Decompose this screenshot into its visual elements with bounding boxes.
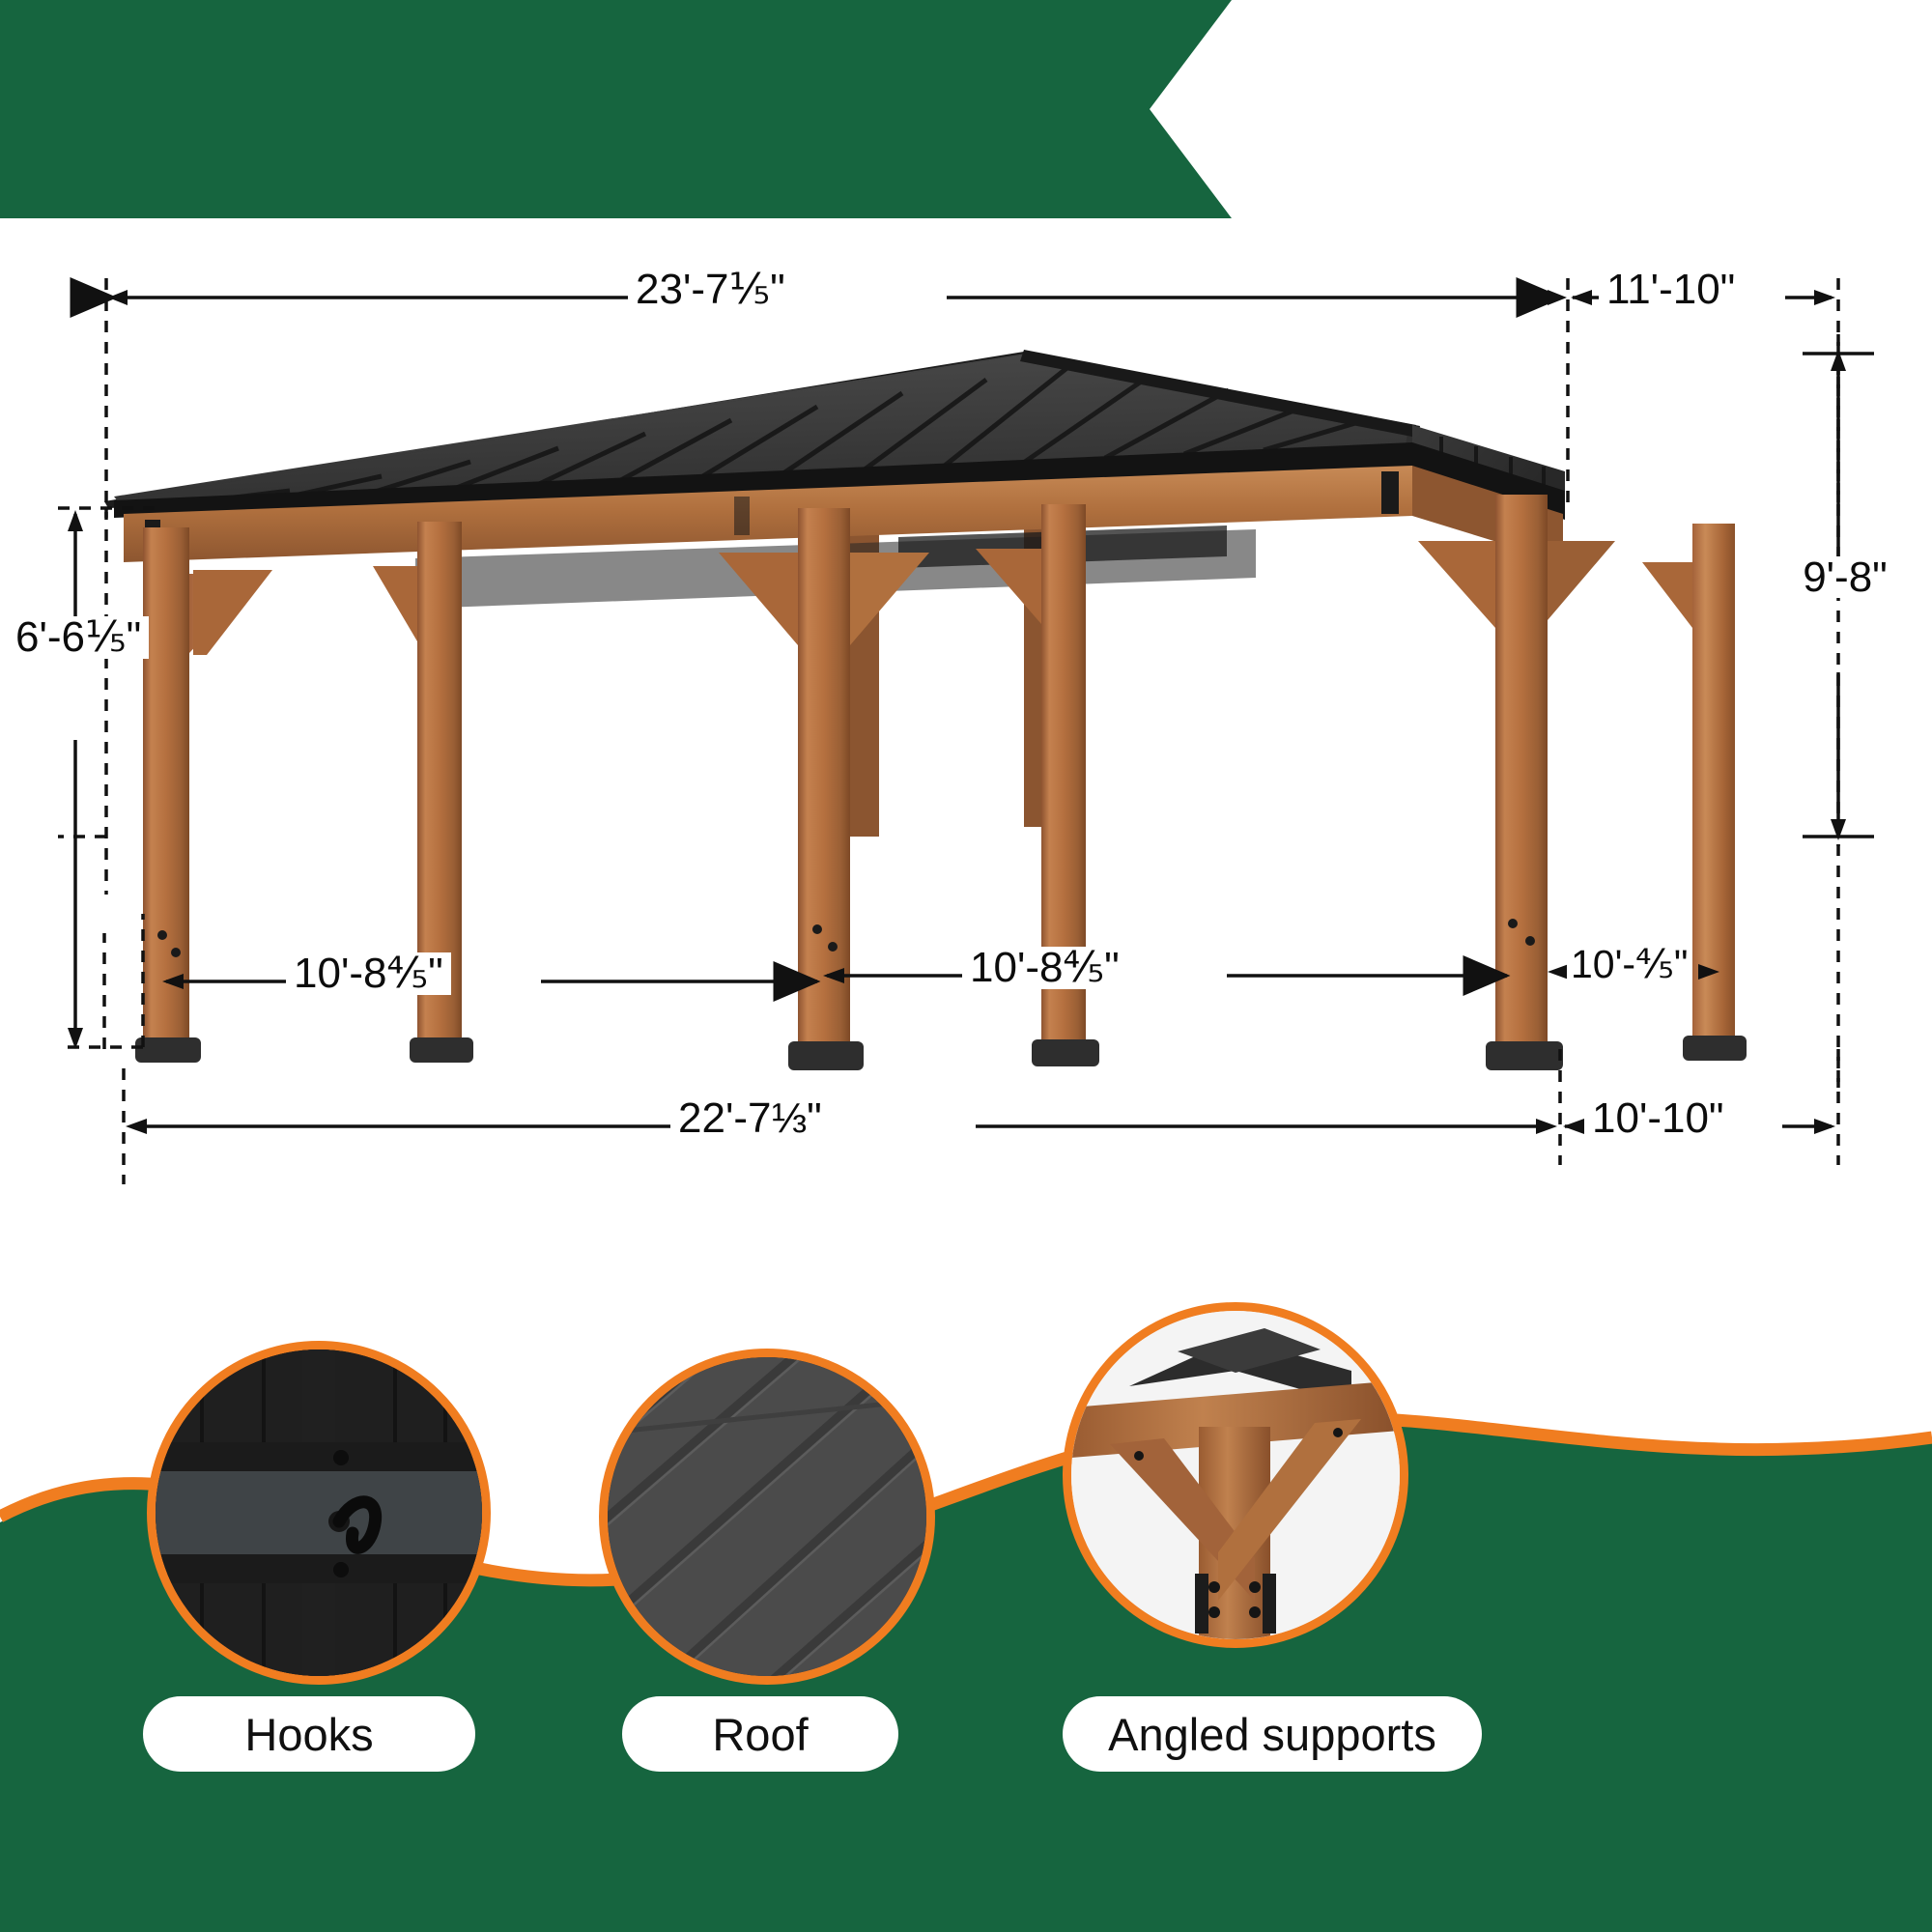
infographic-canvas: Product Dimensions [0, 0, 1932, 1932]
feature-label-hooks: Hooks [143, 1696, 475, 1772]
feature-label-hooks-text: Hooks [244, 1708, 373, 1761]
dimension-label-base-width-bottom: 22'-7⅓" [670, 1097, 830, 1140]
dimension-label-bay-span-2: 10'-8⅘" [962, 947, 1127, 989]
dimension-label-base-depth-bottom: 10'-10" [1584, 1097, 1732, 1140]
angled-support-icon [1071, 1311, 1400, 1639]
hook-detail-icon [156, 1350, 482, 1676]
feature-callouts-section: Hooks [0, 1281, 1932, 1932]
dimension-label-post-height-left: 6'-6⅕" [8, 616, 149, 659]
feature-label-angled-supports: Angled supports [1063, 1696, 1482, 1772]
dimension-label-roof-width-top: 23'-7⅕" [628, 269, 793, 311]
feature-image-hooks [147, 1341, 491, 1685]
feature-image-angled-supports [1063, 1302, 1408, 1648]
dimension-label-bay-span-1: 10'-8⅘" [286, 952, 451, 995]
dimension-diagram: 23'-7⅕" 11'-10" 6'-6⅕" 9'-8" 10'-8⅘" 10'… [0, 218, 1932, 1281]
dimension-label-roof-depth-top: 11'-10" [1599, 269, 1743, 311]
feature-label-angled-supports-text: Angled supports [1108, 1708, 1436, 1761]
dimension-label-bay-span-3: 10'-⅘" [1567, 945, 1691, 984]
roof-panel-icon [608, 1357, 926, 1676]
feature-label-roof-text: Roof [712, 1708, 808, 1761]
header-banner [0, 0, 1232, 218]
feature-image-roof [599, 1349, 935, 1685]
feature-label-roof: Roof [622, 1696, 898, 1772]
dimension-label-peak-height-right: 9'-8" [1789, 556, 1901, 598]
